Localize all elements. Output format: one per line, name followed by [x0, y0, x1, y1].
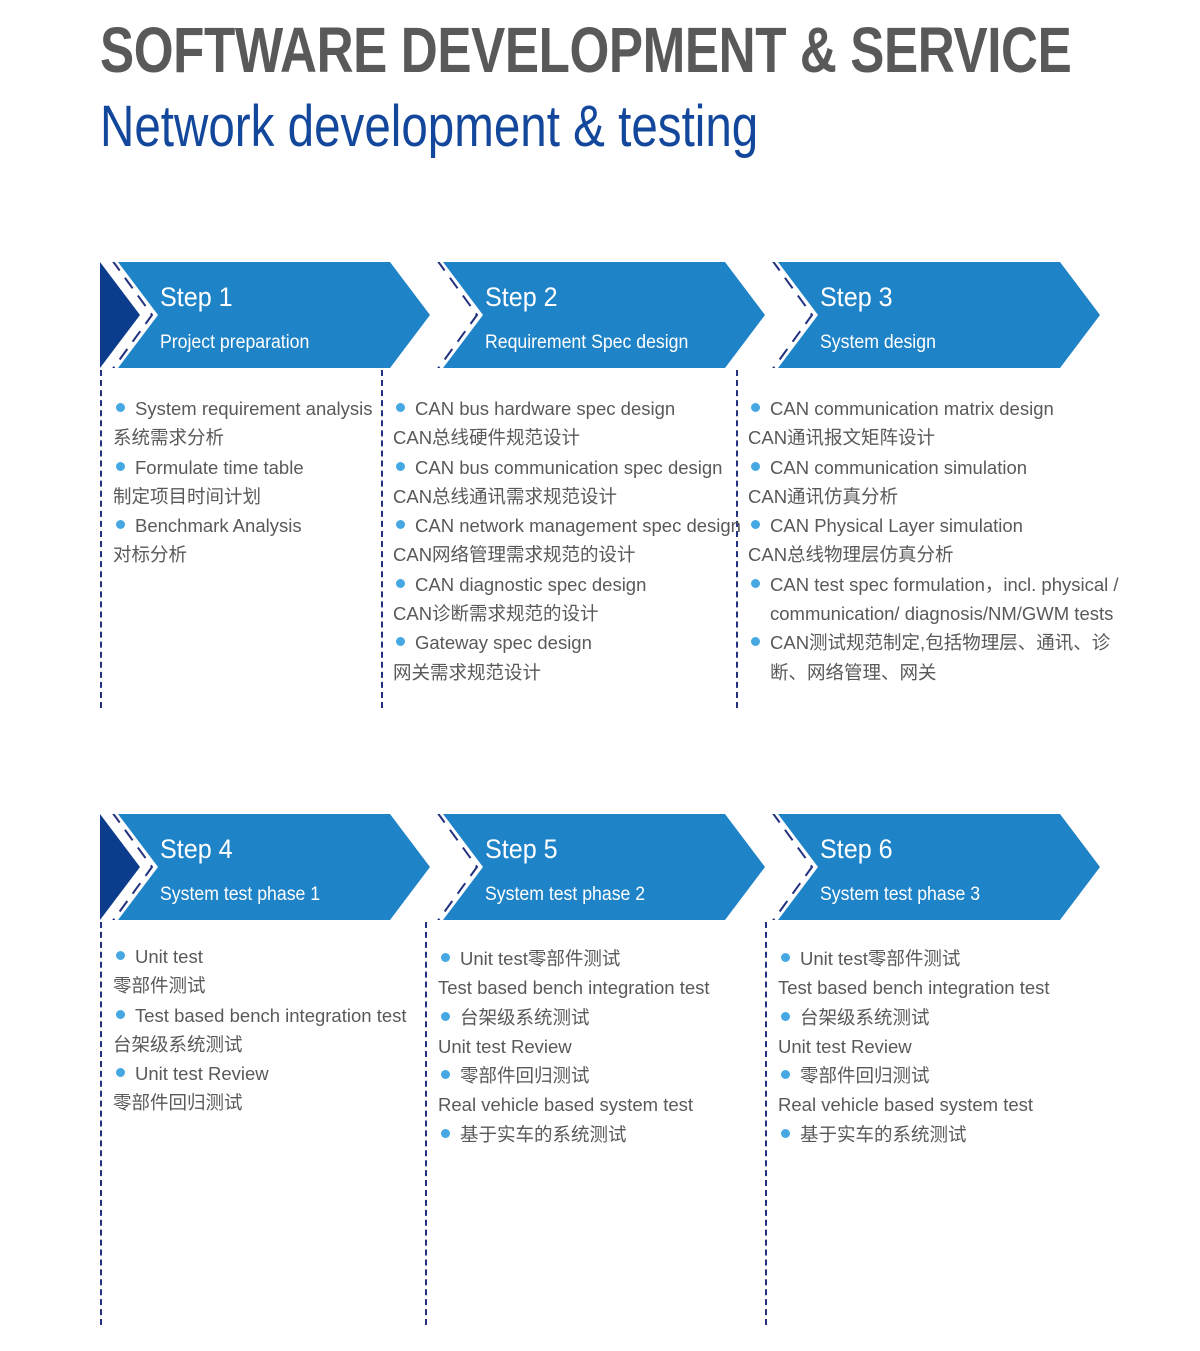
arrow-name-label-2: Requirement Spec design [485, 332, 688, 354]
list-item-label: CAN network management spec design [415, 511, 733, 540]
list-item-label: 制定项目时间计划 [113, 482, 378, 511]
list-item-label: Real vehicle based system test [778, 1090, 1088, 1119]
list-item-label: Benchmark Analysis [135, 511, 378, 540]
column-divider-2b [425, 922, 427, 1325]
bullet-dot-icon [396, 462, 405, 471]
list-item: Benchmark Analysis [113, 511, 378, 540]
arrow-name-label-1: Project preparation [160, 332, 309, 354]
list-item: Unit test Review [113, 1059, 413, 1088]
list-item-label: System requirement analysis [135, 394, 378, 423]
step-6-bullet-list: Unit test零部件测试Test based bench integrati… [778, 944, 1088, 1149]
list-item-label: Unit test Review [778, 1032, 1088, 1061]
list-item-label: 台架级系统测试 [800, 1003, 1088, 1032]
list-item-secondary-line: CAN网络管理需求规范的设计 [393, 540, 733, 569]
step-5-bullet-list: Unit test零部件测试Test based bench integrati… [438, 944, 748, 1149]
bullet-dot-icon [441, 1129, 450, 1138]
bullet-dot-icon [116, 403, 125, 412]
bullet-dot-icon [116, 1068, 125, 1077]
bullet-dot-icon [751, 462, 760, 471]
list-item: Unit test [113, 942, 413, 971]
list-item-label: CAN bus hardware spec design [415, 394, 733, 423]
list-item-secondary-line: CAN通讯仿真分析 [748, 482, 1120, 511]
list-item-label: 系统需求分析 [113, 423, 378, 452]
step-5-content: Unit test零部件测试Test based bench integrati… [438, 944, 748, 1149]
step-3-bullet-list: CAN communication matrix designCAN通讯报文矩阵… [748, 394, 1120, 687]
list-item-label: Gateway spec design [415, 628, 733, 657]
list-item-secondary-line: CAN总线物理层仿真分析 [748, 540, 1120, 569]
list-item-label: Test based bench integration test [135, 1001, 413, 1030]
list-item: 台架级系统测试 [438, 1003, 748, 1032]
list-item-label: 零部件回归测试 [113, 1088, 413, 1117]
list-item-secondary-line: Test based bench integration test [778, 973, 1088, 1002]
list-item-label: CAN总线硬件规范设计 [393, 423, 733, 452]
list-item-label: 基于实车的系统测试 [460, 1120, 748, 1149]
list-item: Unit test零部件测试 [438, 944, 748, 973]
step-1-content: System requirement analysis系统需求分析Formula… [113, 394, 378, 570]
list-item-secondary-line: Unit test Review [438, 1032, 748, 1061]
list-item-secondary-line: 制定项目时间计划 [113, 482, 378, 511]
arrow-step-label-2: Step 2 [485, 282, 558, 313]
list-item-secondary-line: 台架级系统测试 [113, 1030, 413, 1059]
list-item: 台架级系统测试 [778, 1003, 1088, 1032]
list-item-secondary-line: Real vehicle based system test [778, 1090, 1088, 1119]
step-1-bullet-list: System requirement analysis系统需求分析Formula… [113, 394, 378, 570]
bullet-dot-icon [116, 520, 125, 529]
list-item: CAN测试规范制定,包括物理层、通讯、诊断、网络管理、网关 [748, 628, 1120, 687]
arrow-step-label-4: Step 4 [160, 834, 233, 865]
list-item-secondary-line: CAN总线通讯需求规范设计 [393, 482, 733, 511]
page-subtitle: Network development & testing [100, 98, 1096, 156]
list-item-label: 零部件测试 [113, 971, 413, 1000]
list-item-secondary-line: Unit test Review [778, 1032, 1088, 1061]
bullet-dot-icon [781, 1070, 790, 1079]
list-item-secondary-line: CAN通讯报文矩阵设计 [748, 423, 1120, 452]
list-item-label: Unit test Review [438, 1032, 748, 1061]
list-item: CAN communication simulation [748, 453, 1120, 482]
list-item-label: CAN通讯报文矩阵设计 [748, 423, 1120, 452]
bullet-dot-icon [396, 637, 405, 646]
list-item-label: Unit test Review [135, 1059, 413, 1088]
list-item-label: 零部件回归测试 [800, 1061, 1088, 1090]
list-item-secondary-line: CAN总线硬件规范设计 [393, 423, 733, 452]
bullet-dot-icon [441, 1012, 450, 1021]
column-divider-2a [100, 922, 102, 1325]
list-item-secondary-line: 网关需求规范设计 [393, 658, 733, 687]
step-4-content: Unit test零部件测试Test based bench integrati… [113, 942, 413, 1118]
list-item: Formulate time table [113, 453, 378, 482]
column-divider-2c [765, 922, 767, 1325]
arrow-name-label-6: System test phase 3 [820, 884, 980, 906]
list-item-label: Unit test [135, 942, 413, 971]
bullet-dot-icon [781, 953, 790, 962]
list-item: CAN network management spec design [393, 511, 733, 540]
bullet-dot-icon [441, 953, 450, 962]
list-item: System requirement analysis [113, 394, 378, 423]
list-item-label: CAN总线通讯需求规范设计 [393, 482, 733, 511]
bullet-dot-icon [396, 579, 405, 588]
list-item-secondary-line: Test based bench integration test [438, 973, 748, 1002]
arrow-step-label-3: Step 3 [820, 282, 893, 313]
step-2-content: CAN bus hardware spec designCAN总线硬件规范设计C… [393, 394, 733, 687]
list-item-label: 基于实车的系统测试 [800, 1120, 1088, 1149]
arrow-step-label-1: Step 1 [160, 282, 233, 313]
list-item: 基于实车的系统测试 [778, 1120, 1088, 1149]
bullet-dot-icon [751, 520, 760, 529]
list-item-secondary-line: Real vehicle based system test [438, 1090, 748, 1119]
list-item-label: Formulate time table [135, 453, 378, 482]
arrow-name-label-4: System test phase 1 [160, 884, 320, 906]
list-item-label: CAN communication matrix design [770, 394, 1120, 423]
list-item-label: CAN网络管理需求规范的设计 [393, 540, 733, 569]
step-3-content: CAN communication matrix designCAN通讯报文矩阵… [748, 394, 1120, 687]
bullet-dot-icon [396, 403, 405, 412]
arrow-band-row-2: Step 4 System test phase 1 Step 5 System… [100, 814, 1100, 920]
bullet-dot-icon [751, 637, 760, 646]
column-divider-1b [381, 370, 383, 708]
bullet-dot-icon [441, 1070, 450, 1079]
list-item: 零部件回归测试 [778, 1061, 1088, 1090]
list-item-label: 网关需求规范设计 [393, 658, 733, 687]
list-item-label: CAN总线物理层仿真分析 [748, 540, 1120, 569]
list-item-label: Test based bench integration test [438, 973, 748, 1002]
list-item: CAN communication matrix design [748, 394, 1120, 423]
bullet-dot-icon [751, 403, 760, 412]
column-divider-1c [736, 370, 738, 708]
list-item-secondary-line: 对标分析 [113, 540, 378, 569]
bullet-dot-icon [781, 1012, 790, 1021]
list-item-label: Unit test零部件测试 [800, 944, 1088, 973]
column-divider-1a [100, 370, 102, 708]
list-item: 基于实车的系统测试 [438, 1120, 748, 1149]
bullet-dot-icon [781, 1129, 790, 1138]
list-item-label: CAN bus communication spec design [415, 453, 733, 482]
list-item: CAN bus communication spec design [393, 453, 733, 482]
page-title: SOFTWARE DEVELOPMENT & SERVICE [100, 18, 1071, 82]
list-item-label: Unit test零部件测试 [460, 944, 748, 973]
step-2-bullet-list: CAN bus hardware spec designCAN总线硬件规范设计C… [393, 394, 733, 687]
list-item-label: CAN诊断需求规范的设计 [393, 599, 733, 628]
arrow-step-label-6: Step 6 [820, 834, 893, 865]
list-item: 零部件回归测试 [438, 1061, 748, 1090]
bullet-dot-icon [116, 462, 125, 471]
list-item: CAN test spec formulation，incl. physical… [748, 570, 1120, 629]
list-item-label: CAN diagnostic spec design [415, 570, 733, 599]
bullet-dot-icon [396, 520, 405, 529]
arrow-band-row-1: Step 1 Project preparation Step 2 Requir… [100, 262, 1100, 368]
arrow-name-label-5: System test phase 2 [485, 884, 645, 906]
list-item-label: Real vehicle based system test [438, 1090, 748, 1119]
list-item: Test based bench integration test [113, 1001, 413, 1030]
arrow-name-label-3: System design [820, 332, 936, 354]
list-item-label: CAN测试规范制定,包括物理层、通讯、诊断、网络管理、网关 [770, 628, 1120, 687]
step-4-bullet-list: Unit test零部件测试Test based bench integrati… [113, 942, 413, 1118]
list-item-label: 零部件回归测试 [460, 1061, 748, 1090]
page-header: SOFTWARE DEVELOPMENT & SERVICE Network d… [100, 18, 1200, 156]
list-item-label: CAN communication simulation [770, 453, 1120, 482]
list-item: Unit test零部件测试 [778, 944, 1088, 973]
list-item: CAN diagnostic spec design [393, 570, 733, 599]
list-item-secondary-line: 系统需求分析 [113, 423, 378, 452]
step-6-content: Unit test零部件测试Test based bench integrati… [778, 944, 1088, 1149]
list-item-label: 对标分析 [113, 540, 378, 569]
bullet-dot-icon [751, 579, 760, 588]
list-item-secondary-line: CAN诊断需求规范的设计 [393, 599, 733, 628]
list-item-secondary-line: 零部件回归测试 [113, 1088, 413, 1117]
list-item-label: CAN test spec formulation，incl. physical… [770, 570, 1120, 629]
arrow-step-label-5: Step 5 [485, 834, 558, 865]
list-item-label: 台架级系统测试 [113, 1030, 413, 1059]
list-item: CAN bus hardware spec design [393, 394, 733, 423]
list-item-label: 台架级系统测试 [460, 1003, 748, 1032]
list-item: CAN Physical Layer simulation [748, 511, 1120, 540]
list-item-label: CAN Physical Layer simulation [770, 511, 1120, 540]
list-item-secondary-line: 零部件测试 [113, 971, 413, 1000]
bullet-dot-icon [116, 1010, 125, 1019]
list-item-label: CAN通讯仿真分析 [748, 482, 1120, 511]
bullet-dot-icon [116, 951, 125, 960]
list-item: Gateway spec design [393, 628, 733, 657]
list-item-label: Test based bench integration test [778, 973, 1088, 1002]
